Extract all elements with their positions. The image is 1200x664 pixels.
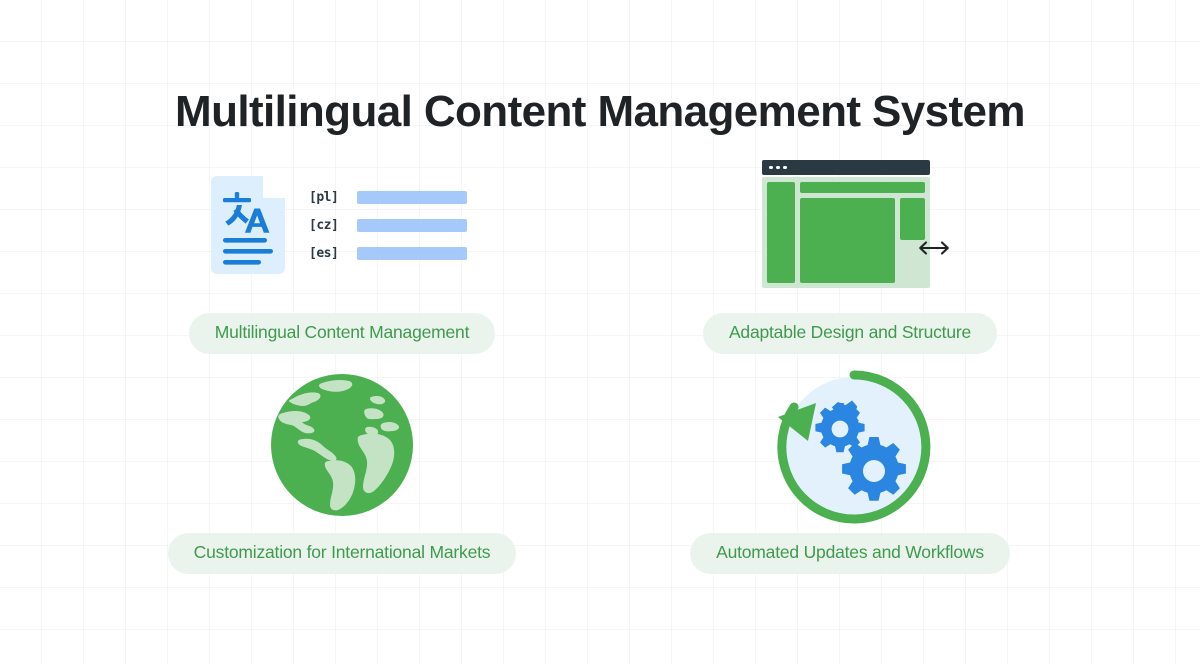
quadrant-artwork xyxy=(550,370,1150,520)
language-row: [es] xyxy=(309,246,467,261)
translate-document-card: [pl] [cz] [es] xyxy=(211,176,467,274)
layout-main-row xyxy=(800,198,925,283)
language-progress-bar xyxy=(357,247,467,260)
language-row: [cz] xyxy=(309,218,467,233)
language-row: [pl] xyxy=(309,190,467,205)
quadrant-label-row: Automated Updates and Workflows xyxy=(550,533,1150,574)
quadrant-label-row: Adaptable Design and Structure xyxy=(550,313,1150,354)
layout-block-aside xyxy=(900,198,925,240)
language-progress-list: [pl] [cz] [es] xyxy=(309,190,467,261)
browser-title-bar xyxy=(762,160,930,175)
window-dot-icon xyxy=(776,166,780,170)
horizontal-resize-arrow-icon xyxy=(914,237,954,259)
language-code: [cz] xyxy=(309,218,345,233)
globe-icon xyxy=(270,373,414,517)
browser-window-mockup xyxy=(762,160,930,288)
page-title: Multilingual Content Management System xyxy=(0,87,1200,137)
label-automated-updates-and-workflows: Automated Updates and Workflows xyxy=(690,533,1010,574)
layout-right-column xyxy=(800,182,925,283)
language-progress-bar xyxy=(357,191,467,204)
layout-block-header xyxy=(800,182,925,193)
layout-block-content xyxy=(800,198,895,283)
browser-layout-icon xyxy=(754,155,954,295)
layout-block-sidebar xyxy=(767,182,795,283)
infographic-page: Multilingual Content Management System xyxy=(0,0,1200,664)
translate-document-icon xyxy=(211,176,285,274)
window-dot-icon xyxy=(783,166,787,170)
label-multilingual-content-management: Multilingual Content Management xyxy=(189,313,496,354)
language-code: [es] xyxy=(309,246,345,261)
gears-refresh-icon xyxy=(768,361,936,529)
window-dot-icon xyxy=(769,166,773,170)
quadrant-artwork xyxy=(550,150,1150,300)
label-adaptable-design-and-structure: Adaptable Design and Structure xyxy=(703,313,997,354)
quadrant-automated-updates-and-workflows: Automated Updates and Workflows xyxy=(550,370,1150,620)
browser-content-area xyxy=(762,177,930,288)
language-code: [pl] xyxy=(309,190,345,205)
language-progress-bar xyxy=(357,219,467,232)
label-customization-for-international-markets: Customization for International Markets xyxy=(168,533,517,574)
